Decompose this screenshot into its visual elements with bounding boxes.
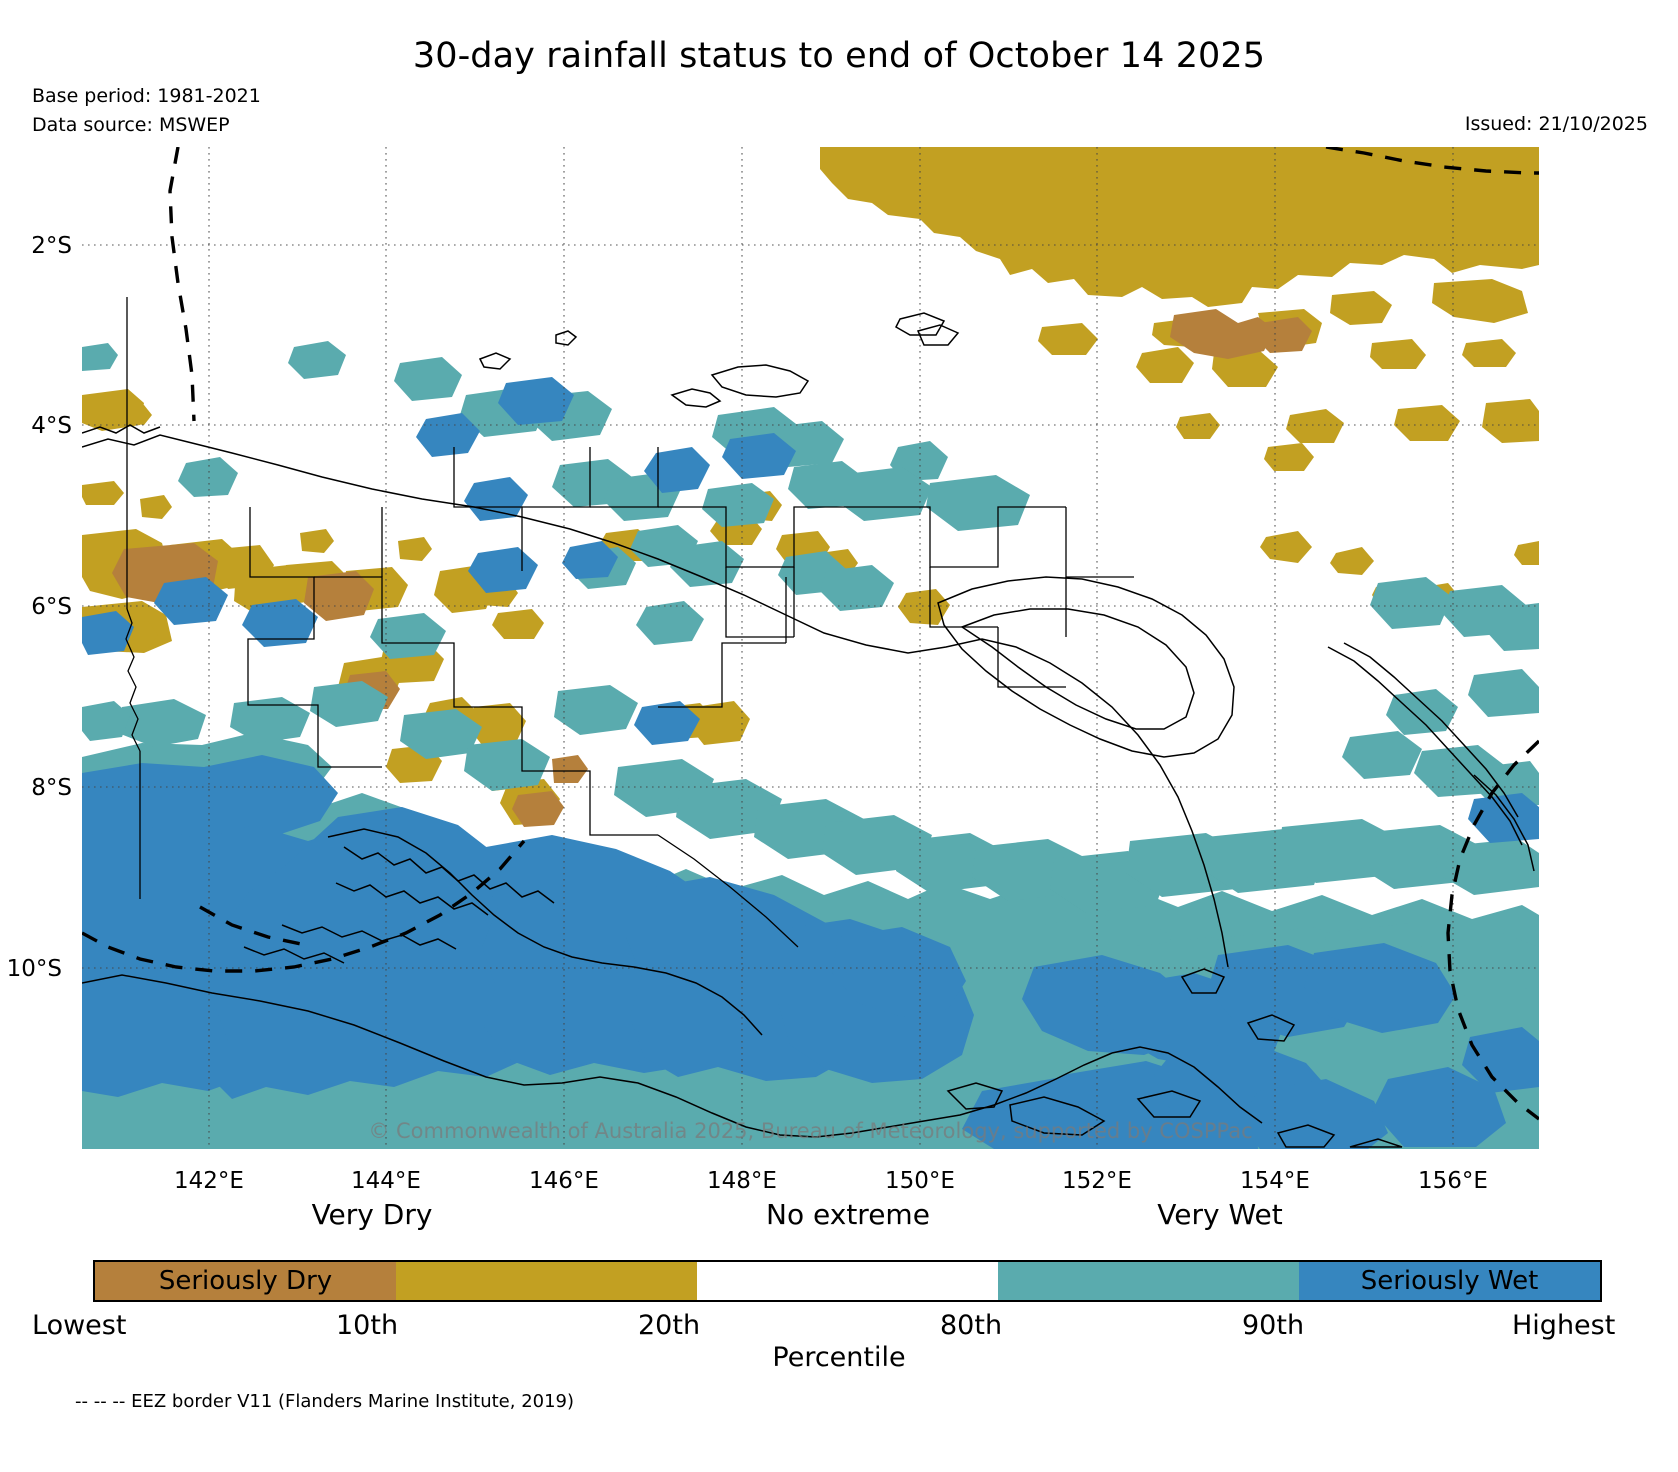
- lon-label-144e: 144°E: [316, 1168, 456, 1194]
- colorbar-segment-label: Seriously Dry: [159, 1266, 332, 1296]
- lon-label-156e: 156°E: [1383, 1168, 1523, 1194]
- data-source-text: Data source: MSWEP: [32, 114, 230, 136]
- colorbar-segment-very-wet[interactable]: [998, 1262, 1299, 1300]
- colorbar-tick-10th: 10th: [336, 1310, 398, 1341]
- colorbar-segment-seriously-dry[interactable]: Seriously Dry: [95, 1262, 396, 1300]
- colorbar-tick-lowest: Lowest: [32, 1310, 126, 1341]
- lat-label-6s: 6°S: [0, 594, 72, 620]
- colorbar-tick-80th: 80th: [940, 1310, 1002, 1341]
- legend-category-no-extreme: No extreme: [638, 1198, 1058, 1231]
- colorbar-tick-highest: Highest: [1512, 1310, 1615, 1341]
- rainfall-map[interactable]: © Commonwealth of Australia 2025, Bureau…: [82, 147, 1539, 1149]
- lon-label-154e: 154°E: [1205, 1168, 1345, 1194]
- map-canvas: [82, 147, 1539, 1149]
- lon-label-152e: 152°E: [1027, 1168, 1167, 1194]
- lon-label-142e: 142°E: [139, 1168, 279, 1194]
- lat-label-4s: 4°S: [0, 413, 72, 439]
- lat-label-2s: 2°S: [0, 233, 72, 259]
- issued-date-text: Issued: 21/10/2025: [1465, 113, 1648, 135]
- colorbar-segment-label: Seriously Wet: [1361, 1266, 1539, 1296]
- eez-border-footnote: -- -- -- EEZ border V11 (Flanders Marine…: [75, 1391, 574, 1412]
- lon-label-150e: 150°E: [850, 1168, 990, 1194]
- colorbar-tick-90th: 90th: [1242, 1310, 1304, 1341]
- legend-category-very-wet: Very Wet: [1010, 1198, 1430, 1231]
- lon-label-146e: 146°E: [494, 1168, 634, 1194]
- colorbar-tick-20th: 20th: [638, 1310, 700, 1341]
- colorbar-segment-seriously-wet[interactable]: Seriously Wet: [1299, 1262, 1600, 1300]
- base-period-text: Base period: 1981-2021: [32, 85, 261, 107]
- colorbar-segment-no-extreme[interactable]: [697, 1262, 998, 1300]
- colorbar-axis-label: Percentile: [0, 1342, 1678, 1373]
- colorbar-segment-very-dry[interactable]: [396, 1262, 697, 1300]
- lon-label-148e: 148°E: [672, 1168, 812, 1194]
- legend-category-very-dry: Very Dry: [162, 1198, 582, 1231]
- page-title: 30-day rainfall status to end of October…: [0, 36, 1678, 76]
- percentile-colorbar[interactable]: Seriously Dry Seriously Wet: [93, 1260, 1602, 1302]
- lat-label-10s: 10°S: [0, 956, 62, 982]
- lat-label-8s: 8°S: [0, 775, 72, 801]
